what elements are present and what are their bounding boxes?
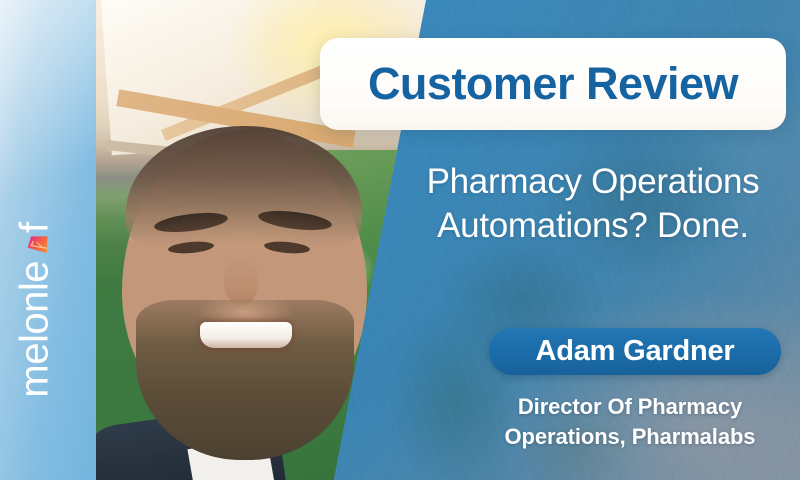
customer-review-badge: Customer Review <box>320 38 786 130</box>
brand-logo[interactable]: melonle f <box>8 195 62 425</box>
page-title: Customer Review <box>368 58 738 110</box>
leaf-icon <box>16 231 48 263</box>
headline-line-1: Pharmacy Operations <box>427 162 760 201</box>
headline: Pharmacy Operations Automations? Done. <box>400 160 786 248</box>
photo-smile <box>200 322 292 348</box>
brand-logo-text-pre: melonle <box>15 261 55 398</box>
person-role-line-1: Director Of Pharmacy <box>518 394 742 419</box>
review-card-canvas: melonle f Custome <box>0 0 800 480</box>
person-role-line-2: Operations, Pharmalabs <box>470 422 790 452</box>
person-name-badge: Adam Gardner <box>489 328 781 375</box>
headline-line-2: Automations? Done. <box>400 204 786 248</box>
photo-nose <box>224 258 258 306</box>
person-role: Director Of Pharmacy Operations, Pharmal… <box>470 392 790 451</box>
person-name: Adam Gardner <box>535 335 734 368</box>
